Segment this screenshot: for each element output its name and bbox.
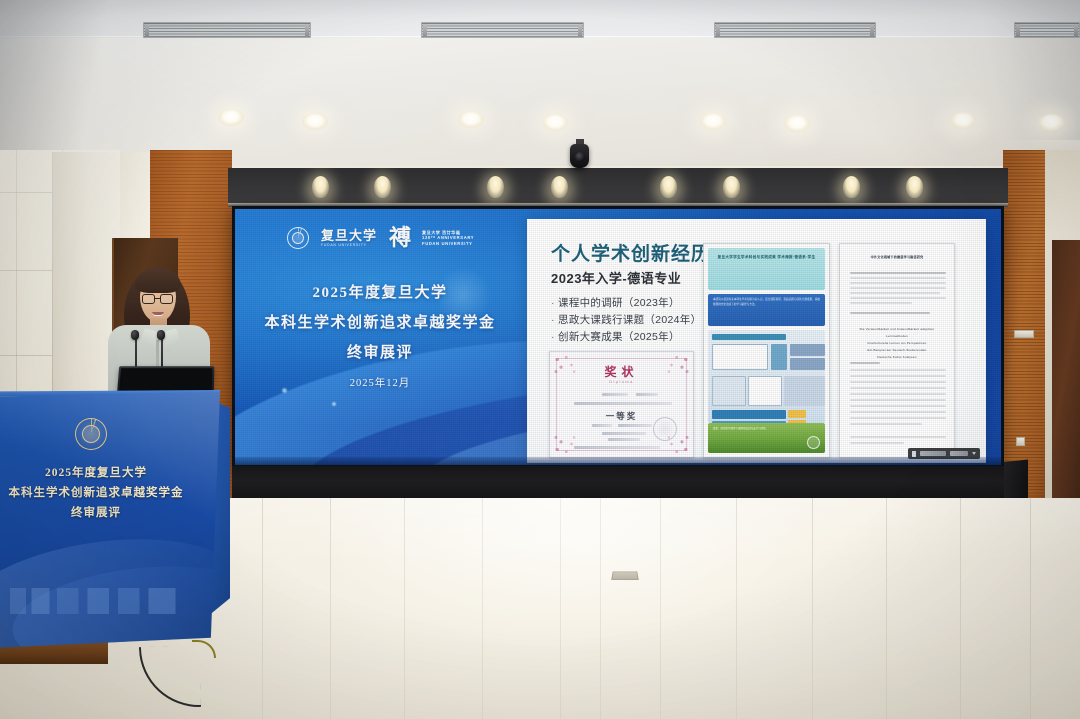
- chevron-down-icon[interactable]: [972, 452, 976, 455]
- slide-subtitle: 2023年入学-德语专业: [551, 268, 681, 287]
- auditorium-scene: 复旦大学 FUDAN UNIVERSITY 禣 复旦大学 百廿华诞 120ᵀᴴ …: [0, 0, 1080, 719]
- document-heading-en: Die Verwendbarkeit und Anwendbarkeit ada…: [850, 326, 944, 360]
- floral-corner-icon: [552, 433, 578, 455]
- paper-document-image: 中外文化视域下的德语学习路径研究 Die Verwendbarkeit und …: [839, 243, 955, 458]
- ac-vent-icon: [143, 22, 311, 38]
- certificate-image: 奖状 Diploma 一等奖: [549, 351, 694, 458]
- downlight-icon: [700, 113, 726, 130]
- spotlight-icon: [660, 176, 677, 198]
- backdrop-event-title: 2025年度复旦大学 本科生学术创新追求卓越奖学金 终审展评 2025年12月: [235, 281, 525, 390]
- fudan-seal-icon: [287, 227, 309, 249]
- slide-bullet-list: 课程中的调研（2023年） 思政大课践行课题（2024年） 创新大赛成果（202…: [551, 295, 701, 346]
- document-heading-cn: 中外文化视域下的德语学习路径研究: [850, 254, 944, 260]
- poster-header-title: 复旦大学学生学术科创与实践成果 学术海报·德语系·学生: [714, 254, 819, 260]
- soffit-above-screen: [228, 168, 1008, 206]
- led-bottom-strip: [235, 457, 1001, 465]
- spotlight-icon: [374, 176, 391, 198]
- spotlight-icon: [551, 176, 568, 198]
- ac-vent-icon: [1014, 22, 1080, 38]
- stage-skirting: [232, 466, 1012, 502]
- anniversary-wordmark: 复旦大学 百廿华诞 120ᵀᴴ ANNIVERSARY FUDAN UNIVER…: [422, 230, 474, 246]
- led-video-wall: 复旦大学 FUDAN UNIVERSITY 禣 复旦大学 百廿华诞 120ᵀᴴ …: [232, 206, 1004, 468]
- ac-vent-icon: [421, 22, 584, 38]
- microphone-icon: [131, 330, 139, 340]
- poster-footer-note: 致谢：感谢指导教师与课题组成员的支持与帮助。: [713, 427, 799, 432]
- presentation-slide: 个人学术创新经历 2023年入学-德语专业 课程中的调研（2023年） 思政大课…: [527, 219, 986, 463]
- anniversary-mark-icon: 禣: [389, 227, 410, 249]
- camera-lens-icon: [575, 152, 585, 162]
- poster-header: 复旦大学学生学术科创与实践成果 学术海报·德语系·学生: [708, 248, 825, 290]
- backdrop-logo-row: 复旦大学 FUDAN UNIVERSITY 禣 复旦大学 百廿华诞 120ᵀᴴ …: [287, 227, 474, 249]
- floor-vent-icon: [611, 572, 639, 580]
- spotlight-icon: [843, 176, 860, 198]
- poster-abstract-band: 本研究以德语专业本科生学术创新为切入点，结合课程调研、思政实践与创新大赛成果，系…: [708, 294, 825, 326]
- podium-title-line-1: 2025年度复旦大学: [0, 464, 200, 480]
- downlight-icon: [542, 114, 568, 131]
- presentation-icon[interactable]: [912, 451, 916, 457]
- backdrop-date: 2025年12月: [235, 375, 525, 390]
- ceiling-main-surface: [0, 38, 1080, 166]
- power-outlet-icon: [1016, 437, 1025, 446]
- microphone-icon: [157, 330, 165, 340]
- floor-light-reflection: [300, 498, 820, 658]
- podium-title-line-2: 本科生学术创新追求卓越奖学金: [0, 484, 200, 500]
- downlight-icon: [458, 111, 484, 128]
- wall-sign-plate: [1014, 330, 1034, 338]
- certificate-seal-icon: [653, 417, 677, 441]
- downlight-icon: [784, 115, 810, 132]
- downlight-icon: [1038, 114, 1064, 131]
- spotlight-icon: [906, 176, 923, 198]
- slide-bullet-item: 创新大赛成果（2025年）: [551, 329, 701, 346]
- fudan-seal-icon: [75, 418, 107, 450]
- toolbar-item-label[interactable]: [950, 451, 968, 456]
- fudan-wordmark: 复旦大学 FUDAN UNIVERSITY: [321, 229, 377, 248]
- downlight-icon: [218, 109, 244, 126]
- glasses-icon: [142, 294, 155, 304]
- backdrop-title-line-3: 终审展评: [235, 341, 525, 362]
- backdrop-title-area: 复旦大学 FUDAN UNIVERSITY 禣 复旦大学 百廿华诞 120ᵀᴴ …: [235, 209, 525, 465]
- certificate-title: 奖状: [550, 363, 693, 380]
- glasses-icon: [160, 294, 173, 304]
- backdrop-title-line-2: 本科生学术创新追求卓越奖学金: [235, 311, 525, 332]
- backdrop-title-line-1: 2025年度复旦大学: [235, 281, 525, 302]
- spotlight-icon: [312, 176, 329, 198]
- spotlight-icon: [487, 176, 504, 198]
- slide-bullet-item: 课程中的调研（2023年）: [551, 295, 701, 312]
- slide-bullet-item: 思政大课践行课题（2024年）: [551, 312, 701, 329]
- toolbar-item-label[interactable]: [920, 451, 946, 456]
- poster-body: [708, 330, 825, 423]
- downlight-icon: [302, 113, 328, 130]
- downlight-icon: [950, 112, 976, 129]
- ac-vent-icon: [714, 22, 876, 38]
- certificate-subtitle: Diploma: [550, 379, 693, 384]
- doorway-right[interactable]: [1052, 240, 1080, 540]
- podium-skyline-graphic: [10, 588, 190, 614]
- glasses-bridge: [155, 298, 160, 299]
- poster-abstract-text: 本研究以德语专业本科生学术创新为切入点，结合课程调研、思政实践与创新大赛成果，系…: [713, 298, 820, 307]
- podium-title-line-3: 终审展评: [0, 504, 200, 520]
- slide-title: 个人学术创新经历: [551, 239, 711, 266]
- fudan-logo-icon: [807, 436, 820, 449]
- poster-footer: 致谢：感谢指导教师与课题组成员的支持与帮助。: [708, 423, 825, 453]
- led-screen-surface: 复旦大学 FUDAN UNIVERSITY 禣 复旦大学 百廿华诞 120ᵀᴴ …: [235, 209, 1001, 465]
- podium-front-panel: 2025年度复旦大学 本科生学术创新追求卓越奖学金 终审展评: [0, 392, 220, 648]
- academic-poster-image: 复旦大学学生学术科创与实践成果 学术海报·德语系·学生 本研究以德语专业本科生学…: [703, 243, 830, 458]
- spotlight-icon: [723, 176, 740, 198]
